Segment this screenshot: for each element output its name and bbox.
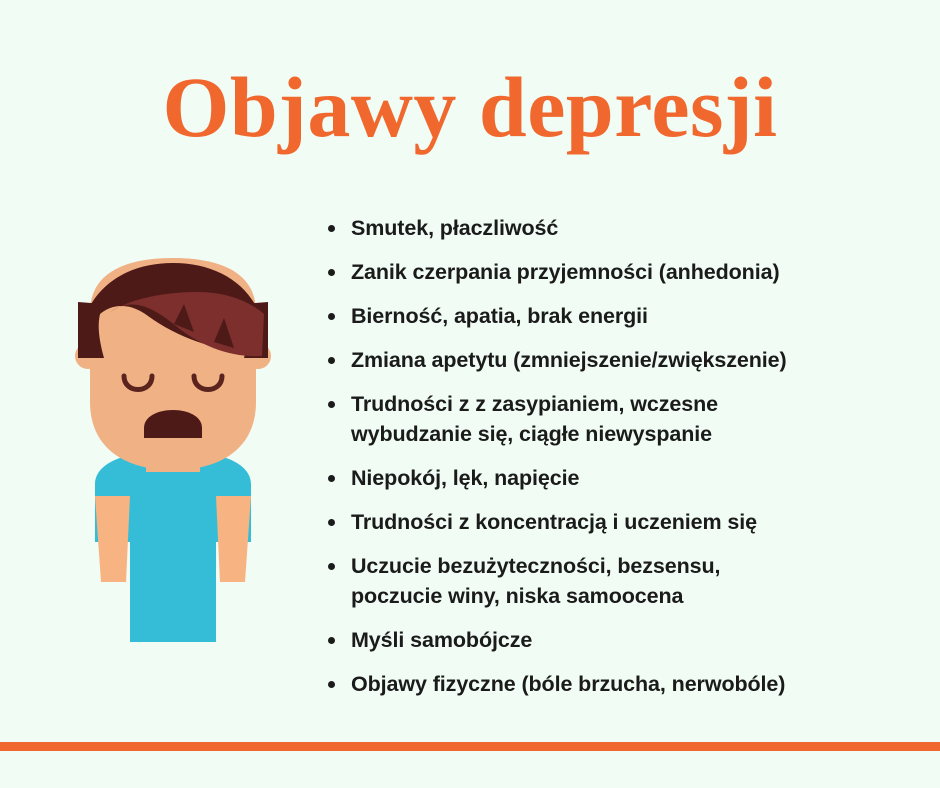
list-item: Niepokój, lęk, napięcie [322, 463, 922, 493]
list-item: Objawy fizyczne (bóle brzucha, nerwobóle… [322, 669, 922, 699]
list-item-text: Smutek, płaczliwość [351, 216, 558, 240]
list-item-text: Trudności z koncentracją i uczeniem się [351, 510, 757, 534]
list-item-text: Zmiana apetytu (zmniejszenie/zwiększenie… [351, 348, 787, 372]
list-item: Smutek, płaczliwość [322, 213, 922, 243]
bullet-icon [328, 681, 335, 688]
bullet-icon [328, 269, 335, 276]
list-item: Bierność, apatia, brak energii [322, 301, 922, 331]
bullet-icon [328, 519, 335, 526]
list-item-text: Trudności z z zasypianiem, wczesne [351, 392, 718, 416]
list-item: Trudności z koncentracją i uczeniem się [322, 507, 922, 537]
list-item-text: Myśli samobójcze [351, 628, 532, 652]
symptom-list: Smutek, płaczliwość Zanik czerpania przy… [322, 213, 922, 713]
sad-boy-illustration [48, 252, 298, 642]
poster-canvas: Objawy depresji [0, 0, 940, 788]
list-item: Zmiana apetytu (zmniejszenie/zwiększenie… [322, 345, 922, 375]
list-item: Uczucie bezużyteczności, bezsensu, poczu… [322, 551, 922, 611]
page-title: Objawy depresji [0, 62, 940, 152]
bottom-accent-rule [0, 742, 940, 751]
list-item-text-line2: poczucie winy, niska samoocena [351, 581, 922, 611]
bullet-icon [328, 475, 335, 482]
bullet-icon [328, 401, 335, 408]
list-item-text: Zanik czerpania przyjemności (anhedonia) [351, 260, 780, 284]
list-item-text: Bierność, apatia, brak energii [351, 304, 648, 328]
list-item: Myśli samobójcze [322, 625, 922, 655]
bullet-icon [328, 637, 335, 644]
list-item: Zanik czerpania przyjemności (anhedonia) [322, 257, 922, 287]
list-item-text-line2: wybudzanie się, ciągłe niewyspanie [351, 419, 922, 449]
bullet-icon [328, 225, 335, 232]
list-item: Trudności z z zasypianiem, wczesne wybud… [322, 389, 922, 449]
bullet-icon [328, 313, 335, 320]
bullet-icon [328, 563, 335, 570]
list-item-text: Niepokój, lęk, napięcie [351, 466, 579, 490]
bullet-icon [328, 357, 335, 364]
list-item-text: Uczucie bezużyteczności, bezsensu, [351, 554, 720, 578]
list-item-text: Objawy fizyczne (bóle brzucha, nerwobóle… [351, 672, 785, 696]
